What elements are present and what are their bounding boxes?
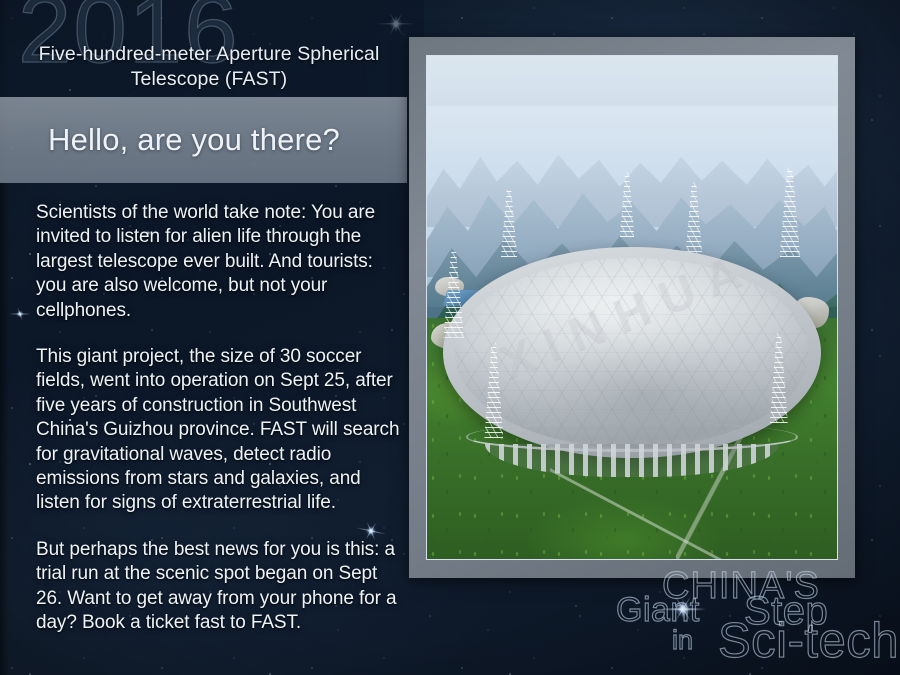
photo-inner-border: XINHUA bbox=[426, 55, 838, 560]
photo-frame: XINHUA bbox=[409, 37, 855, 578]
paragraph-3: But perhaps the best news for you is thi… bbox=[36, 538, 408, 636]
branding-lockup: CHINA'S Giant Step in Sci-tech bbox=[614, 567, 882, 663]
telescope-photo: XINHUA bbox=[427, 56, 837, 559]
headline-text: Hello, are you there? bbox=[48, 122, 340, 158]
photo-access-road bbox=[550, 468, 722, 559]
paragraph-1: Scientists of the world take note: You a… bbox=[36, 201, 408, 323]
paragraph-2: This giant project, the size of 30 socce… bbox=[36, 345, 408, 516]
flare-star-mid-left bbox=[9, 303, 31, 325]
branding-line-scitech: Sci-tech bbox=[718, 613, 899, 669]
page-title: Five-hundred-meter Aperture Spherical Te… bbox=[0, 42, 418, 92]
slide-canvas: 2016 Five-hundred-meter Aperture Spheric… bbox=[0, 0, 900, 675]
article-body: Scientists of the world take note: You a… bbox=[36, 201, 408, 636]
branding-line-in: in bbox=[672, 625, 693, 656]
